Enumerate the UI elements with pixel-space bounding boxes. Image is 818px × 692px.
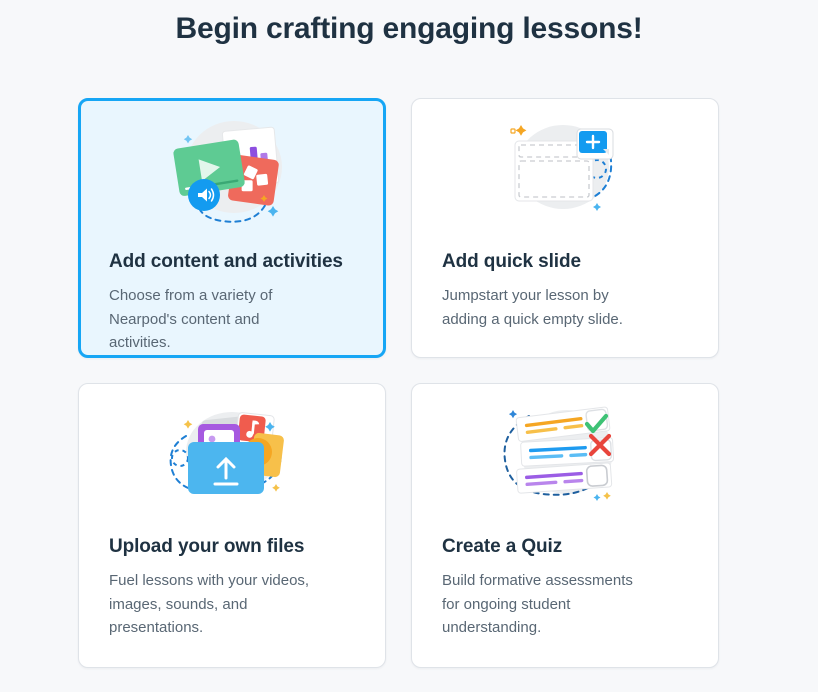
- upload-files-illustration: [79, 392, 385, 520]
- card-add-content-and-activities[interactable]: Add content and activities Choose from a…: [78, 98, 386, 358]
- card-heading: Add content and activities: [81, 249, 383, 275]
- card-heading: Add quick slide: [412, 249, 718, 275]
- content-activities-illustration: [81, 107, 383, 235]
- card-upload-your-own-files[interactable]: Upload your own files Fuel lessons with …: [78, 383, 386, 668]
- lesson-option-card-grid: Add content and activities Choose from a…: [78, 98, 718, 668]
- card-description: Fuel lessons with your videos, images, s…: [79, 569, 351, 640]
- create-quiz-illustration: [412, 392, 718, 520]
- card-add-quick-slide[interactable]: Add quick slide Jumpstart your lesson by…: [411, 98, 719, 358]
- lesson-creation-page: Begin crafting engaging lessons!: [0, 0, 818, 692]
- card-heading: Upload your own files: [79, 534, 385, 560]
- card-description: Jumpstart your lesson by adding a quick …: [412, 284, 684, 331]
- card-create-a-quiz[interactable]: Create a Quiz Build formative assessment…: [411, 383, 719, 668]
- card-description: Build formative assessments for ongoing …: [412, 569, 684, 640]
- card-description: Choose from a variety of Nearpod's conte…: [81, 284, 353, 355]
- card-heading: Create a Quiz: [412, 534, 718, 560]
- page-title: Begin crafting engaging lessons!: [0, 0, 818, 49]
- quick-slide-illustration: [412, 107, 718, 235]
